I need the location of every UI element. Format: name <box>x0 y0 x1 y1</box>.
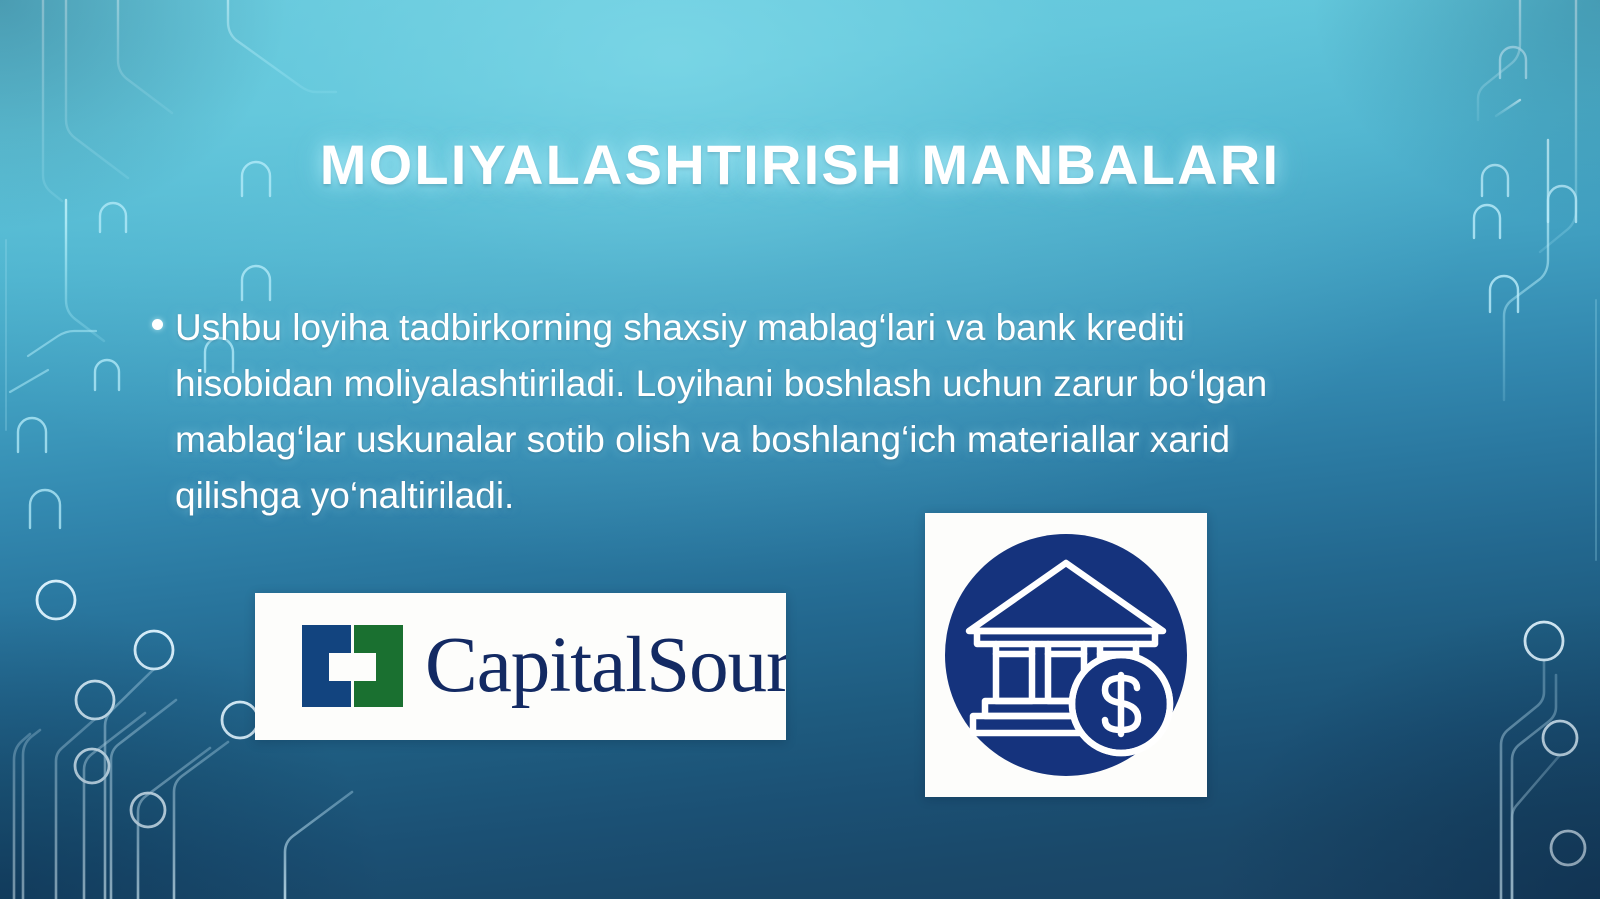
presentation-slide: MOLIYALASHTIRISH MANBALARI Ushbu loyiha … <box>0 0 1600 899</box>
bullet-point-icon <box>152 319 163 330</box>
bullet-list: Ushbu loyiha tadbirkorning shaxsiy mabla… <box>152 300 1382 524</box>
capitalsource-wordmark: CapitalSource <box>425 611 786 721</box>
slide-title: MOLIYALASHTIRISH MANBALARI <box>0 132 1600 197</box>
capitalsource-green-square <box>354 625 403 707</box>
capitalsource-logo-image: CapitalSource <box>255 593 786 740</box>
capitalsource-mark-icon <box>302 625 403 707</box>
bullet-item-text: Ushbu loyiha tadbirkorning shaxsiy mabla… <box>175 300 1335 524</box>
capitalsource-blue-square <box>302 625 351 707</box>
bank-icon-image <box>925 513 1207 797</box>
bank-dollar-icon <box>941 530 1191 780</box>
capitalsource-blue-notch <box>329 653 351 681</box>
capitalsource-green-notch <box>354 653 376 681</box>
